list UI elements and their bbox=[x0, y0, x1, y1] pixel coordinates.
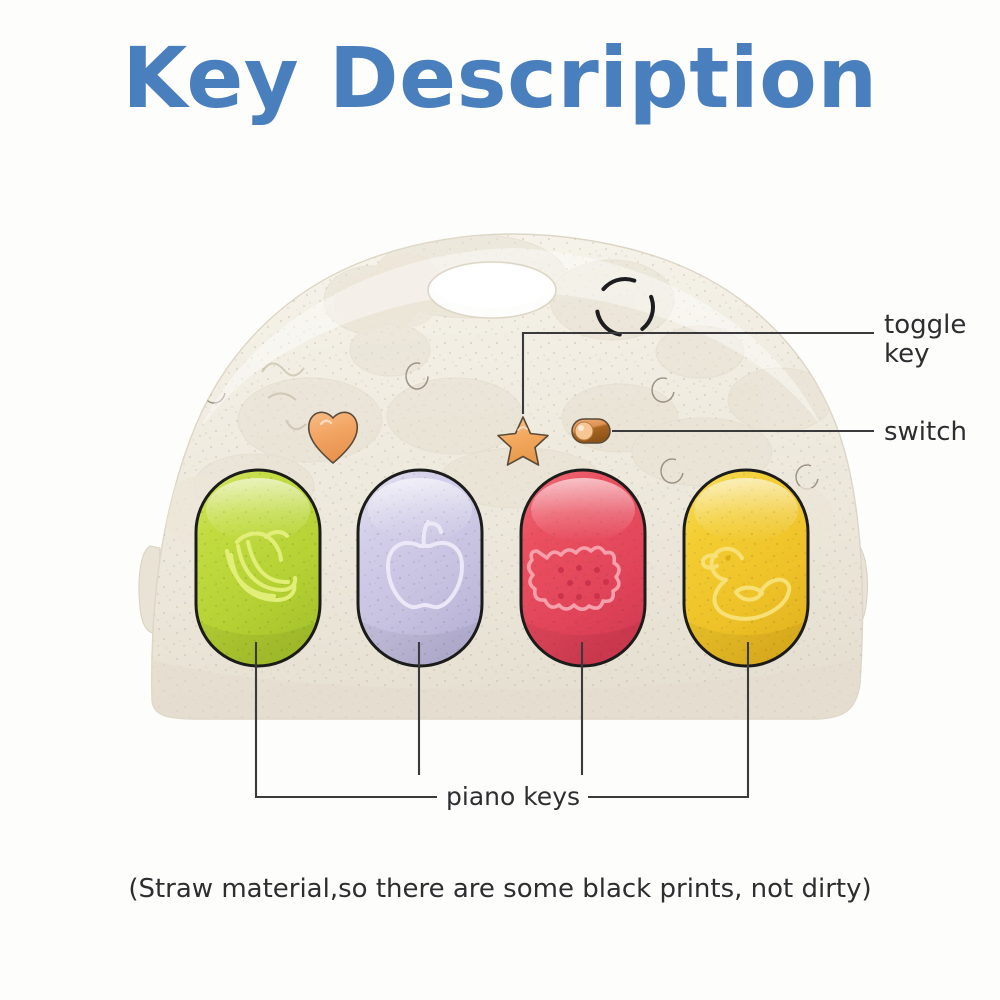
piano-key-purple[interactable] bbox=[358, 470, 482, 666]
duck-eye-icon bbox=[725, 555, 730, 560]
key-description-page: Key Description bbox=[0, 0, 1000, 1000]
callout-label-toggle-key: toggle key bbox=[884, 311, 966, 369]
toy-illustration bbox=[0, 0, 1000, 1000]
piano-key-yellow[interactable] bbox=[684, 470, 808, 666]
slide-switch[interactable] bbox=[572, 419, 610, 443]
footer-caption: (Straw material,so there are some black … bbox=[0, 874, 1000, 904]
callout-label-switch: switch bbox=[884, 418, 967, 447]
piano-key-red[interactable] bbox=[521, 470, 645, 666]
piano-key-green[interactable] bbox=[196, 470, 320, 666]
carry-handle-hole[interactable] bbox=[428, 262, 556, 318]
callout-label-piano-keys: piano keys bbox=[446, 783, 580, 811]
toy-body bbox=[139, 230, 880, 730]
